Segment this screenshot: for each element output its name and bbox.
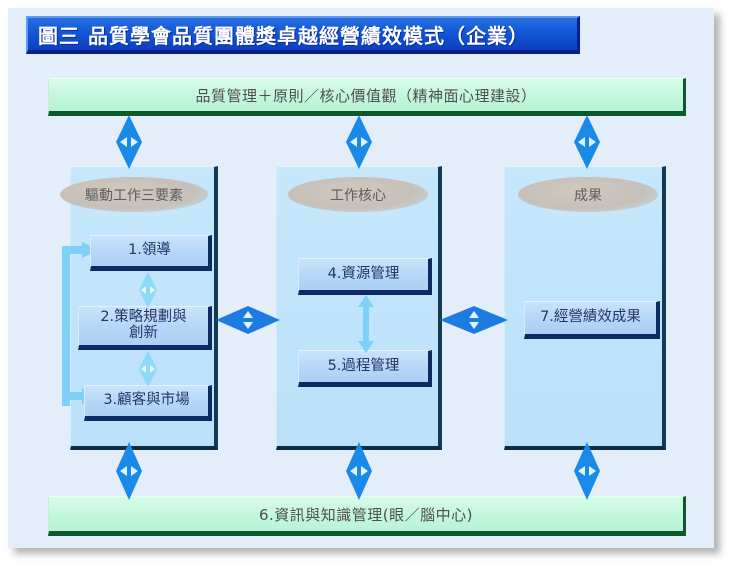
box-5-label: 5.過程管理	[328, 359, 400, 375]
column-header-results-label: 成果	[574, 185, 602, 205]
box-1-label: 1.領導	[128, 243, 171, 259]
box-7-business-results[interactable]: 7.經營績效成果	[524, 301, 660, 339]
arrow-drivers-to-bottom-icon	[112, 442, 146, 500]
box-5-process-management[interactable]: 5.過程管理	[298, 350, 432, 387]
arrow-box2-box3-icon	[137, 351, 159, 387]
box-4-label: 4.資源管理	[328, 267, 400, 283]
arrow-box4-box5-icon	[355, 295, 377, 353]
arrow-drivers-to-core-icon	[216, 303, 280, 337]
column-header-drivers: 驅動工作三要素	[60, 177, 208, 212]
page-title: 圖三 品質學會品質團體獎卓越經營績效模式（企業）	[28, 20, 529, 49]
box-4-resource-management[interactable]: 4.資源管理	[298, 258, 432, 295]
arrow-core-to-results-icon	[440, 303, 508, 337]
arrow-top-to-results-icon	[570, 115, 604, 169]
column-header-core-label: 工作核心	[330, 185, 386, 205]
banner-bottom-information: 6.資訊與知識管理(眼／腦中心)	[48, 496, 686, 536]
column-header-results: 成果	[518, 177, 658, 212]
banner-top-principles: 品質管理＋原則／核心價值觀（精神面心理建設）	[48, 78, 686, 116]
banner-top-label: 品質管理＋原則／核心價值觀（精神面心理建設）	[195, 85, 536, 106]
column-header-core: 工作核心	[288, 177, 428, 212]
arrow-results-to-bottom-icon	[570, 442, 604, 500]
box-3-customer-market[interactable]: 3.顧客與市場	[84, 385, 212, 421]
figure-title-bar: 圖三 品質學會品質團體獎卓越經營績效模式（企業）	[26, 16, 580, 54]
box-2-label: 2.策略規劃與 創新	[100, 310, 186, 341]
banner-bottom-label: 6.資訊與知識管理(眼／腦中心)	[259, 504, 473, 525]
arrow-top-to-core-icon	[342, 115, 376, 169]
box-3-label: 3.顧客與市場	[103, 393, 189, 409]
box-2-strategy[interactable]: 2.策略規劃與 創新	[78, 306, 212, 350]
arrow-top-to-drivers-icon	[112, 115, 146, 169]
column-header-drivers-label: 驅動工作三要素	[85, 185, 183, 205]
box-7-label: 7.經營績效成果	[540, 310, 641, 326]
box-1-leadership[interactable]: 1.領導	[90, 235, 212, 271]
figure-canvas: 圖三 品質學會品質團體獎卓越經營績效模式（企業） 品質管理＋原則／核心價值觀（精…	[0, 0, 732, 567]
arrow-core-to-bottom-icon	[342, 442, 376, 500]
arrow-box1-box2-icon	[137, 272, 159, 308]
